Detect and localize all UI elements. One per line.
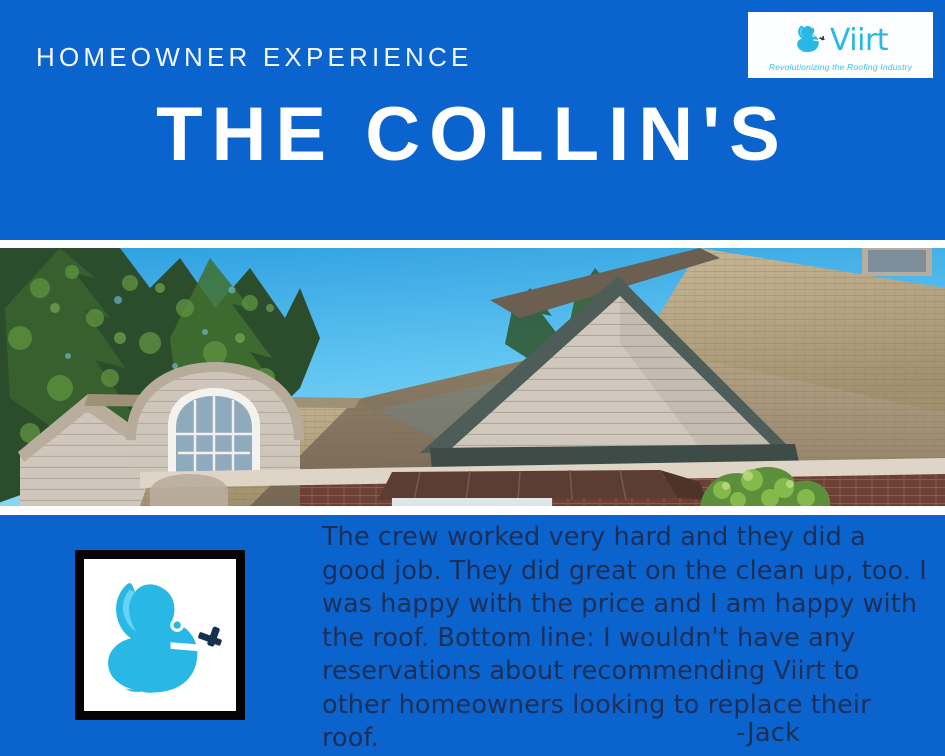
viirt-logo[interactable]: Viirt Revolutionizing the Roofing Indust… xyxy=(748,12,933,78)
photo-divider xyxy=(0,506,945,515)
page-title: THE COLLIN'S xyxy=(0,95,945,175)
header-divider xyxy=(0,240,945,248)
logo-wordmark: Viirt xyxy=(830,26,888,56)
squirrel-with-hammer-icon xyxy=(94,567,226,704)
roof-photo xyxy=(0,248,945,506)
avatar xyxy=(75,550,245,720)
homeowner-experience-card: HOMEOWNER EXPERIENCE THE COLLIN'S xyxy=(0,0,945,756)
testimonial-signature: -Jack xyxy=(322,718,930,748)
eyebrow-label: HOMEOWNER EXPERIENCE xyxy=(36,42,473,73)
header-banner: HOMEOWNER EXPERIENCE THE COLLIN'S xyxy=(0,0,945,240)
logo-tagline: Revolutionizing the Roofing Industry xyxy=(769,62,912,72)
squirrel-with-hammer-icon xyxy=(793,22,827,59)
